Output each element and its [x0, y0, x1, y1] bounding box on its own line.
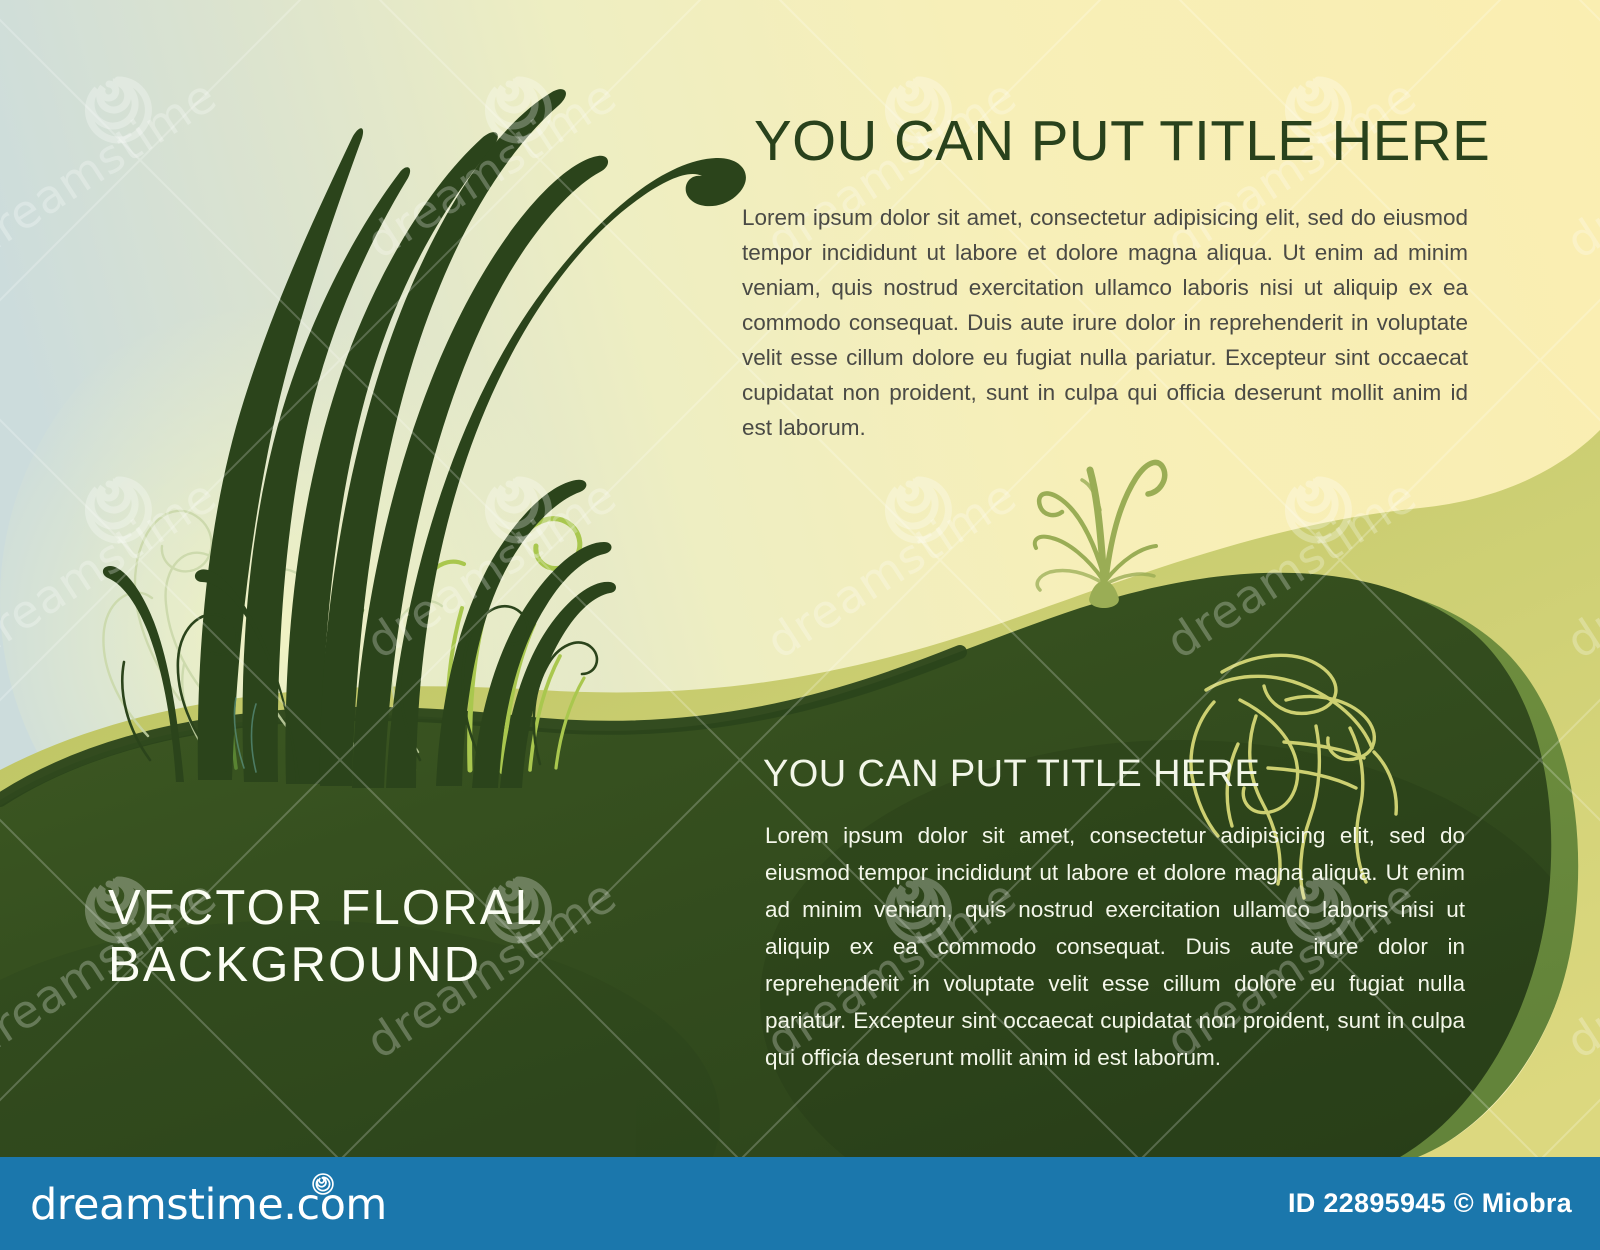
image-canvas: dreamstime YOU CAN PUT TITLE HERE Lorem … [0, 0, 1600, 1250]
brand-title: VECTOR FLORAL BACKGROUND [108, 880, 628, 994]
brand-title-line-1: VECTOR FLORAL [108, 881, 544, 935]
dreamstime-logo[interactable]: dreamstime.com [30, 1179, 387, 1227]
bottom-section-body: Lorem ipsum dolor sit amet, consectetur … [765, 817, 1465, 1076]
spiral-icon [312, 1173, 334, 1195]
bottom-section-title: YOU CAN PUT TITLE HERE [763, 753, 1463, 796]
image-id-credit: ID 22895945 © Miobra [1288, 1188, 1572, 1219]
brand-title-line-2: BACKGROUND [108, 937, 628, 994]
top-section-body: Lorem ipsum dolor sit amet, consectetur … [742, 200, 1468, 445]
top-section-title: YOU CAN PUT TITLE HERE [754, 108, 1467, 174]
dreamstime-footer-bar: dreamstime.com ID 22895945 © Miobra [0, 1157, 1600, 1250]
